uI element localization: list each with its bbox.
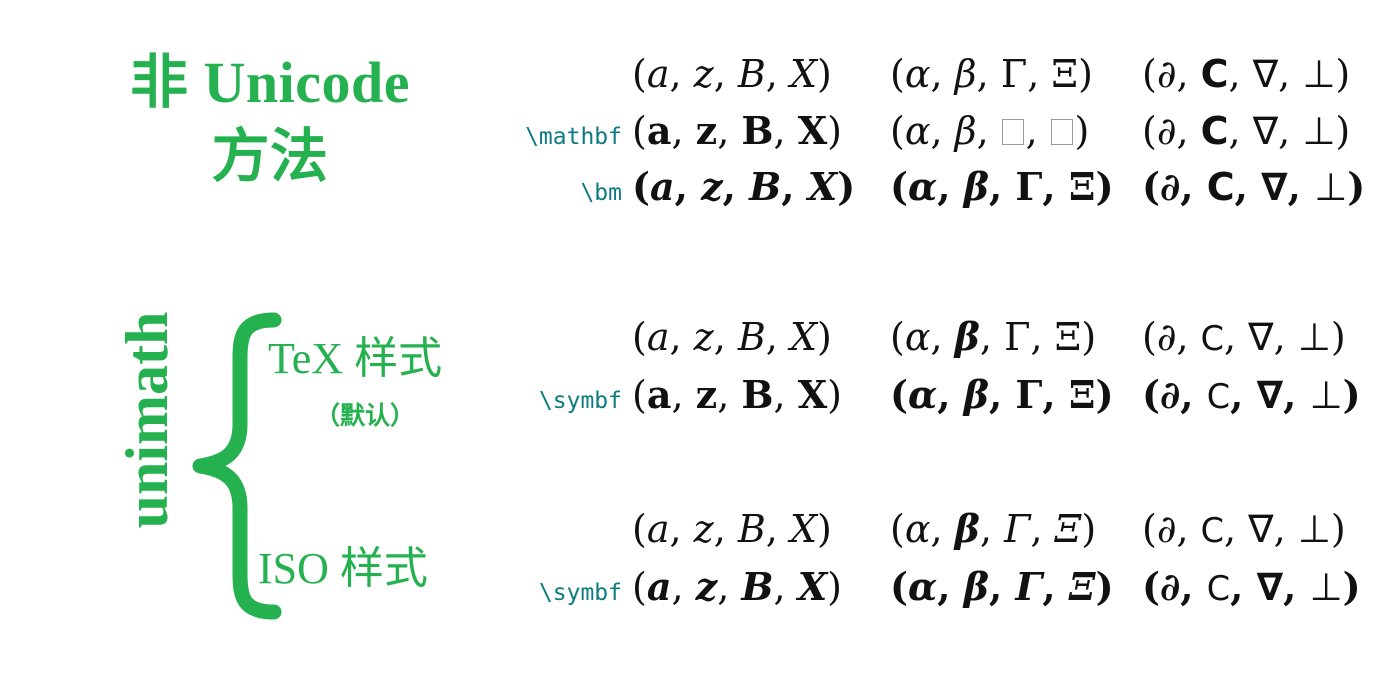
math-cell-latin: (a, z, B, X): [632, 164, 890, 209]
math-row-tex-symbf: \symbf (a, z, B, X) (α, β, Γ, Ξ) (∂, C, …: [470, 372, 1370, 430]
math-row-nonunicode-plain: (a, z, B, X) (α, β, Γ, Ξ) (∂, C, ∇, ⊥): [470, 52, 1370, 110]
command-label: \symbf: [470, 388, 632, 414]
math-cell-latin: (a, z, B, X): [632, 507, 890, 551]
missing-glyph-box: [1002, 119, 1024, 145]
math-cell-greek: (α, β, Γ, Ξ): [890, 314, 1142, 359]
style-label-iso: ISO 样式: [258, 546, 428, 592]
math-cell-greek: (α, β, , ): [890, 109, 1142, 153]
math-cell-symbols: (∂, C, ∇, ⊥): [1142, 164, 1372, 209]
style-label-tex: TeX 样式: [268, 336, 442, 382]
section-title-non-unicode: 非 Unicode 方法: [60, 46, 480, 194]
math-row-iso-plain: (a, z, B, X) (α, β, Γ, Ξ) (∂, C, ∇, ⊥): [470, 506, 1370, 564]
math-cell-greek: (α, β, Γ, Ξ): [890, 564, 1142, 609]
command-label: \bm: [470, 180, 632, 206]
math-cell-greek: (α, β, Γ, Ξ): [890, 164, 1142, 209]
math-cell-greek: (α, β, Γ, Ξ): [890, 372, 1142, 417]
math-cell-symbols: (∂, C, ∇, ⊥): [1142, 52, 1372, 96]
math-cell-latin: (a, z, B, X): [632, 564, 890, 609]
math-cell-symbols: (∂, C, ∇, ⊥): [1142, 372, 1372, 417]
math-cell-latin: (a, z, B, X): [632, 315, 890, 359]
math-row-iso-symbf: \symbf (a, z, B, X) (α, β, Γ, Ξ) (∂, C, …: [470, 564, 1370, 622]
math-cell-latin: (a, z, B, X): [632, 108, 890, 153]
math-row-tex-plain: (a, z, B, X) (α, β, Γ, Ξ) (∂, C, ∇, ⊥): [470, 314, 1370, 372]
math-row-nonunicode-bm: \bm (a, z, B, X) (α, β, Γ, Ξ) (∂, C, ∇, …: [470, 164, 1370, 222]
math-cell-greek: (α, β, Γ, Ξ): [890, 52, 1142, 96]
missing-glyph-box: [1051, 119, 1073, 145]
figure-canvas: 非 Unicode 方法 (a, z, B, X) (α, β, Γ, Ξ) (…: [0, 0, 1400, 700]
group-label-unimath: unimath: [117, 255, 177, 585]
math-cell-latin: (a, z, B, X): [632, 52, 890, 96]
math-cell-symbols: (∂, C, ∇, ⊥): [1142, 315, 1372, 359]
style-sublabel-default: （默认）: [315, 396, 415, 432]
title-line-2: 方法: [60, 120, 480, 194]
math-cell-symbols: (∂, C, ∇, ⊥): [1142, 507, 1372, 551]
math-cell-latin: (a, z, B, X): [632, 372, 890, 417]
math-cell-symbols: (∂, C, ∇, ⊥): [1142, 109, 1372, 153]
math-row-nonunicode-mathbf: \mathbf (a, z, B, X) (α, β, , ) (∂, C, ∇…: [470, 108, 1370, 166]
title-line-1: 非 Unicode: [130, 50, 410, 115]
math-cell-symbols: (∂, C, ∇, ⊥): [1142, 564, 1372, 609]
math-cell-greek: (α, β, Γ, Ξ): [890, 506, 1142, 551]
command-label: \symbf: [470, 580, 632, 606]
command-label: \mathbf: [470, 124, 632, 150]
